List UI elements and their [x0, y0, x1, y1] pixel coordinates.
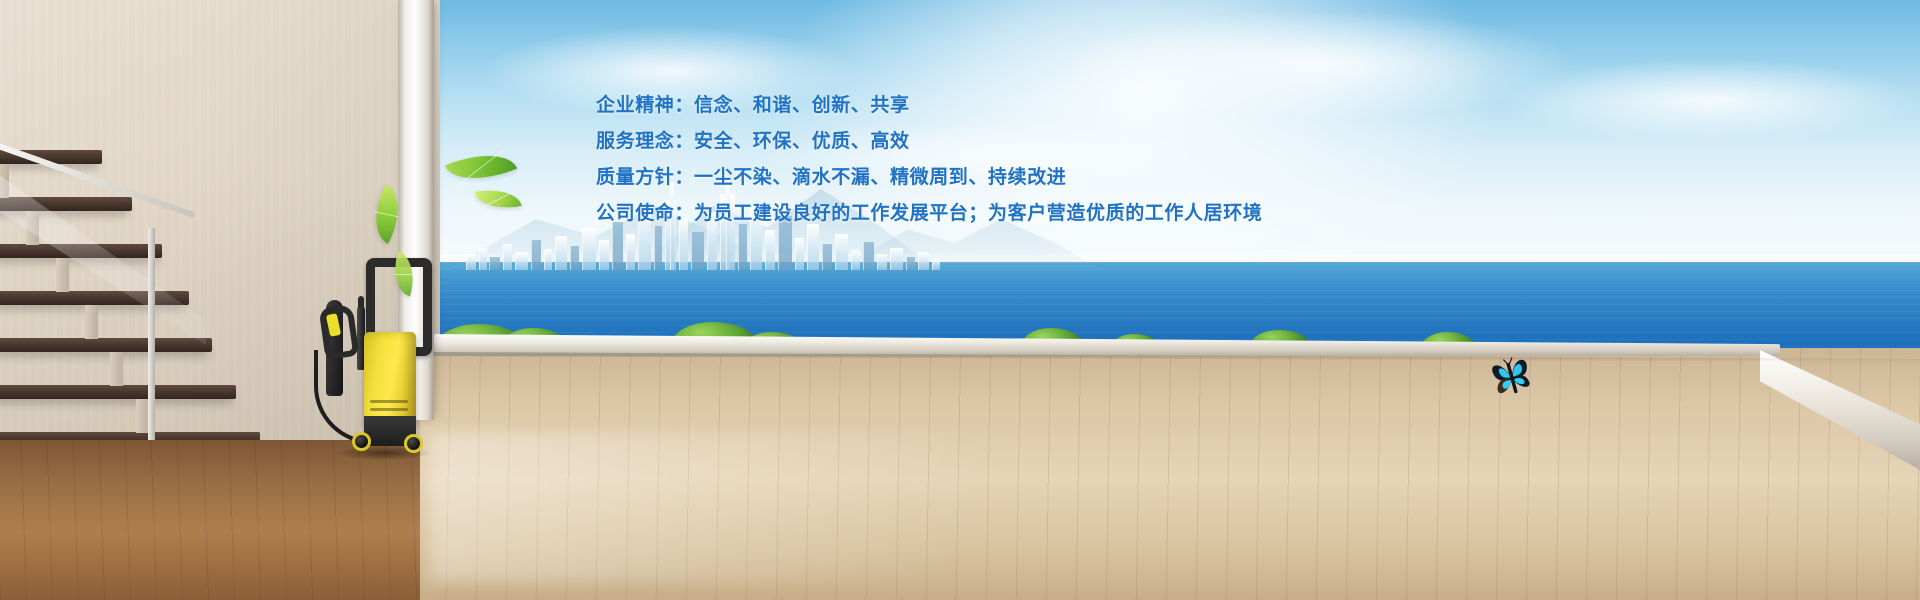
washer-wheel: [352, 432, 371, 451]
washer-wheel: [404, 434, 423, 453]
culture-text-block: 企业精神：信念、和谐、创新、共享 服务理念：安全、环保、优质、高效 质量方针：一…: [596, 88, 1356, 232]
balcony-floor: [420, 348, 1920, 600]
interior-floor: [0, 440, 440, 600]
culture-line-spirit: 企业精神：信念、和谐、创新、共享: [596, 88, 1356, 124]
culture-line-mission: 公司使命：为员工建设良好的工作发展平台；为客户营造优质的工作人居环境: [596, 196, 1356, 232]
culture-line-service: 服务理念：安全、环保、优质、高效: [596, 124, 1356, 160]
washer-hose: [314, 350, 372, 444]
railing-post: [148, 228, 155, 466]
culture-line-quality: 质量方针：一尘不染、滴水不漏、精微周到、持续改进: [596, 160, 1356, 196]
butterfly: [1486, 352, 1538, 404]
company-culture-banner: 企业精神：信念、和谐、创新、共享 服务理念：安全、环保、优质、高效 质量方针：一…: [0, 0, 1920, 600]
